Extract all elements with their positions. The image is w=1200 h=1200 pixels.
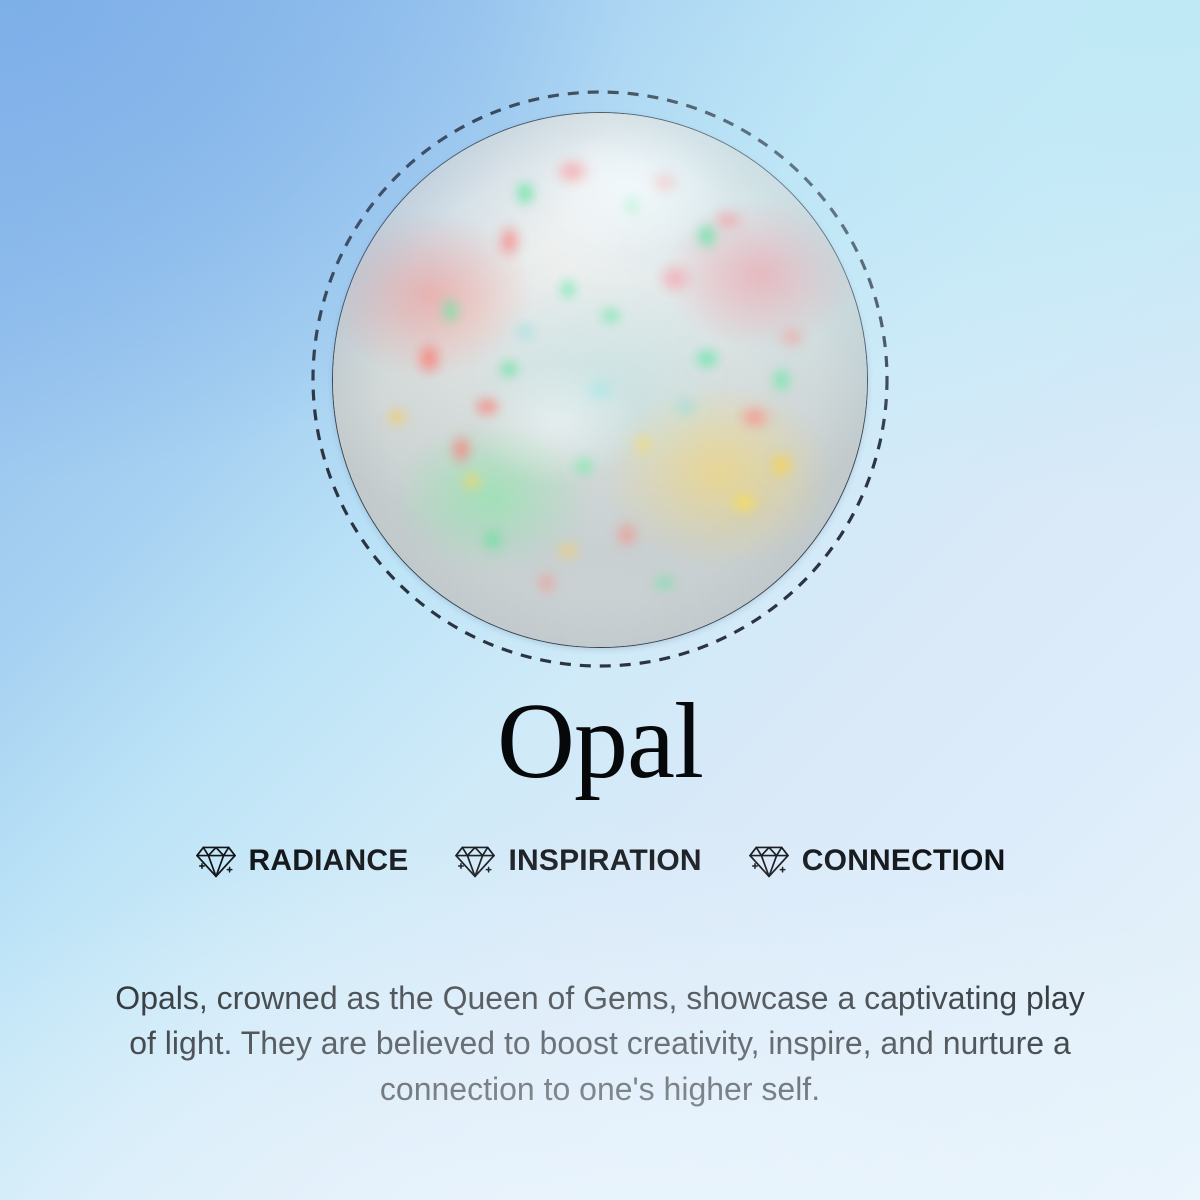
keyword-item-radiance: RADIANCE [195,842,409,880]
keyword-list: RADIANCE INSPIRATION [0,842,1200,880]
opal-edge-shading [333,113,867,647]
gem-icon [454,842,496,880]
gemstone-info-card: Opal RADIANCE [0,0,1200,1200]
gemstone-description: Opals, crowned as the Queen of Gems, sho… [100,976,1100,1112]
keyword-label: CONNECTION [802,844,1006,878]
gem-image-area [0,0,1200,700]
gem-icon [195,842,237,880]
gem-icon [748,842,790,880]
opal-stone-image [332,112,868,648]
keyword-label: INSPIRATION [508,844,701,878]
keyword-item-connection: CONNECTION [748,842,1006,880]
keyword-label: RADIANCE [249,844,409,878]
keyword-item-inspiration: INSPIRATION [454,842,701,880]
gemstone-title: Opal [0,688,1200,796]
